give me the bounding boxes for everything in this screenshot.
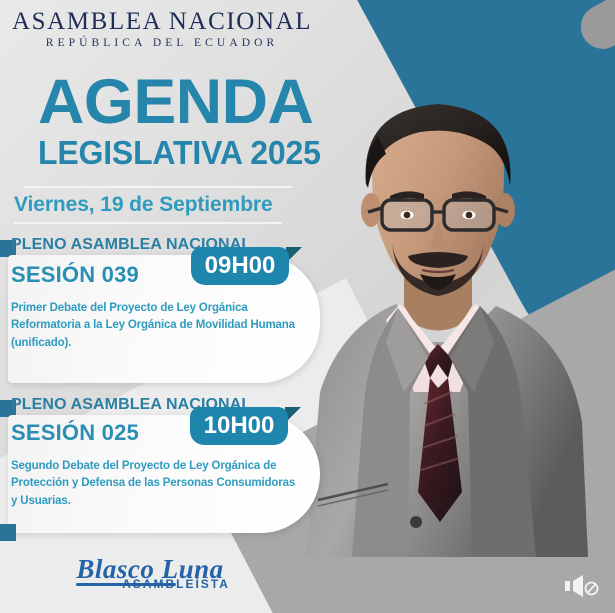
card-time-text: 09H00: [205, 252, 276, 280]
institution-name: ASAMBLEA NACIONAL: [12, 8, 312, 35]
signature-block: Blasco Luna ASAMBLEÍSTA: [50, 556, 250, 591]
card-session-number: SESIÓN 025: [11, 420, 139, 446]
card-description: Segundo Debate del Proyecto de Ley Orgán…: [11, 458, 301, 510]
date-rule-top: [24, 186, 292, 188]
card-time-badge: 09H00: [191, 247, 289, 285]
speaker-muted-icon[interactable]: [563, 573, 601, 599]
agenda-date: Viernes, 19 de Septiembre: [14, 186, 314, 224]
date-text: Viernes, 19 de Septiembre: [14, 193, 314, 217]
card-session-number: SESIÓN 039: [11, 262, 139, 288]
card-time-text: 10H00: [204, 412, 275, 440]
legislator-portrait: [300, 92, 590, 557]
card-time-badge: 10H00: [190, 407, 288, 445]
institution-logo: ASAMBLEA NACIONAL REPÚBLICA DEL ECUADOR: [12, 8, 312, 49]
institution-subtitle: REPÚBLICA DEL ECUADOR: [12, 37, 312, 49]
card-left-tab: [0, 524, 16, 541]
title-line-2: LEGISLATIVA 2025: [38, 136, 329, 169]
date-rule-bottom: [14, 222, 282, 224]
page-title: AGENDA LEGISLATIVA 2025: [38, 74, 338, 169]
agenda-poster: ASAMBLEA NACIONAL REPÚBLICA DEL ECUADOR …: [0, 0, 615, 613]
signature-role: ASAMBLEÍSTA: [102, 577, 250, 591]
card-description: Primer Debate del Proyecto de Ley Orgáni…: [11, 300, 301, 352]
title-line-1: AGENDA: [38, 74, 344, 132]
